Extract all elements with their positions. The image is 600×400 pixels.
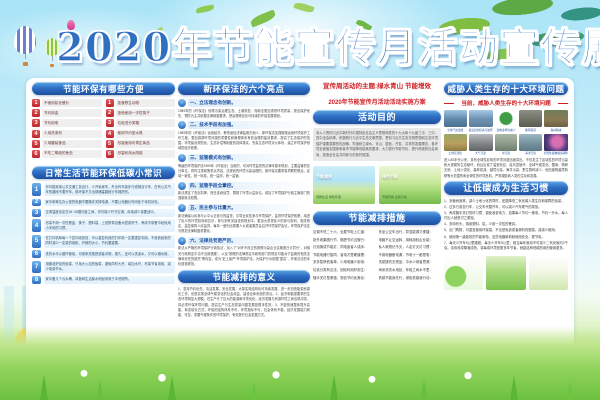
list-item: 5、出门购物，可重复使用环保袋，不论是免费或者便利的塑袋，减减少使用。 — [444, 228, 568, 233]
chevron-right-icon: › — [178, 154, 186, 162]
table-row: 灯泡换成节能灯，同电省省人成序： 私人家规记不灭，人走灯灭灯习惯： — [313, 244, 441, 249]
photo-caption: 生物多样性减少 — [495, 128, 518, 132]
measure-cell: 随手关灯是美德，勤俭节约优美化： — [313, 275, 376, 280]
list-item: 2、过多行或自行车，公交车代替开车，可以减少汽车尾气的排放。 — [444, 205, 568, 210]
list-number: 4 — [106, 130, 114, 138]
grid-item: 生物多样性减少 — [495, 110, 518, 132]
tip-text: 家中备几个污水桶，将各种生活废水积起来用于冲洗厕所。 — [44, 276, 176, 284]
subsection-body: 1989年的《环保法》运用经济、教育途径法律监管方面少，新环保法加强措施运用环境… — [178, 131, 310, 152]
low-carbon-habit-list: 1、多植树造林，减少土地沙化的同时，还能降低二氧化碳人类生存和保障的含量。 2、… — [444, 199, 568, 252]
table-row: 多多智情低客单，少用电器少用电： 洗菜搓衣无残品，中水少绿省思源： — [313, 259, 441, 264]
numbered-two-column-list: 1 不使用铅化餐针 2 节约用金 3 节约用电 4 少用洗涤剂 5 少用罐装食品 — [32, 99, 175, 160]
tip-number: 7 — [32, 261, 41, 274]
purpose-photo-row: 节能减排 低碳生活 绿色环保 绿色节能 节能有我 全民行动 — [313, 166, 441, 204]
list-item: 4 使用节约型水具 — [106, 130, 176, 138]
list-item: 5 在打印机和每一个复印纸张前，可以重复利用的打印纸一定要重复利用，不浪费纸张的… — [32, 235, 175, 248]
tip-number: 1 — [32, 183, 41, 196]
numbered-list-right: 1 拒食野生动物 2 拒绝使用一次性筷子 3 垃圾进分类箱 4 使用节约型水具 … — [106, 99, 176, 160]
grass-blade-icon — [168, 376, 176, 400]
subsection-body: 1989年的《环保法》侧重污染治理生态、土壤恢复、而新法更加重视环境质量，提出保… — [178, 109, 310, 119]
daily-tips-list: 1 尽可能采用公共交通工具出行，少开私家车，外出时尽量步行或骑自行车，在有公共汽… — [32, 183, 175, 284]
list-label: 拒绝使用一次性筷子 — [116, 109, 176, 117]
subsection-body: 新法从严格的环境保护行政执法，加入了"对环不改正的按照污染企业实施按日计罚分"，… — [178, 246, 310, 267]
measure-cell: 低碳节能我先行，绿色低碳我行动： — [379, 275, 442, 280]
tip-text: 用微波炉加热饭菜，只用大火加热饭菜，避免同时大开，增加水开，尽量节省用电，减少电… — [44, 261, 176, 274]
list-number: 3 — [32, 119, 40, 127]
column-energy-saving-conveniences: 节能环保有哪些方便 1 不使用铅化餐针 2 节约用金 3 节约用电 4 少用洗涤… — [32, 82, 175, 286]
poster-image-energy-saving: 节能减排 低碳生活 绿色环保 — [313, 166, 375, 204]
grid-item: 臭氧层的损失与破坏 — [469, 110, 493, 132]
photo-hazardous-waste — [544, 134, 568, 151]
panel-header-measures: 节能减排措施 — [313, 211, 441, 225]
list-item: 7、每天少开车5公里路程，每天少开车5公里，相当每年就将不可减少二氧化碳约2千克… — [444, 241, 568, 252]
tip-number: 8 — [32, 276, 41, 284]
grass-blade-icon — [96, 380, 104, 400]
list-item: 1 尽可能采用公共交通工具出行，少开私家车，外出时尽量步行或骑自行车，在有公共汽… — [32, 183, 175, 196]
list-number: 4 — [32, 130, 40, 138]
tip-number: 4 — [32, 219, 41, 232]
measure-cell: 电脑不让空运转，用耗用轻企业能： — [379, 237, 442, 242]
grass-blade-icon — [566, 381, 574, 400]
list-item: 1 不使用铅化餐针 — [32, 99, 102, 107]
list-item: 4 尽量不用一次性餐盒、筷子、塑料袋，上班携带自备水壶或杯子，养成不用餐巾纸而用… — [32, 219, 175, 232]
plan-title: 2020年节能宣传月活动活动实施方案 — [313, 97, 441, 106]
list-number: 5 — [32, 140, 40, 148]
list-number: 2 — [106, 109, 114, 117]
list-item: 3 空调温度设定在26~28摄氏度之间，尽可能少开冷空调，用电减少量要适中。 — [32, 209, 175, 217]
photo-caption: 大气污染 — [469, 151, 493, 155]
measure-cell: 多多智情低客单，少用电器少用电： — [313, 259, 376, 264]
poster-image-green-energy: 绿色节能 节能有我 全民行动 — [379, 166, 441, 204]
tip-number: 2 — [32, 199, 41, 207]
poster-board: 2020年节能宣传月活动宣传展板 节能环保有哪些方便 1 不使用铅化餐针 2 节… — [0, 0, 600, 400]
list-item: 6、使用第一级能效的节能家电，这些电器新和耐使用安全，更节电。 — [444, 235, 568, 240]
list-label: 节约用金 — [42, 109, 102, 117]
list-item: 3 节约用电 — [32, 119, 102, 127]
measure-cell: 多坐公交车出行，彰显能源又便捷： — [379, 229, 442, 234]
measures-list: 空调不低二十六，全屋节电上汇道： 多坐公交车出行，彰显能源又便捷： 拒外收集圈行… — [313, 229, 441, 280]
list-number: 6 — [32, 150, 40, 158]
grid-item: 森林锐减 — [544, 110, 568, 132]
photo-caption: 土地荒漠化 — [444, 151, 467, 155]
grass-blade-icon — [510, 375, 518, 400]
panel-header-ten-problems: 威胁人类生存的十大环境问题 — [444, 82, 568, 95]
grid-item: 土地荒漠化 — [444, 134, 467, 156]
list-item: 3、养成随手关灯的好习惯，避免浪费电力，如果每人节约一度电，节约一升水，每人付出… — [444, 211, 568, 222]
illustration-cycling — [486, 256, 525, 290]
measure-cell: 私人家规记不灭，人走灯灭灯习惯： — [379, 244, 442, 249]
tip-number: 5 — [32, 235, 41, 248]
list-number: 1 — [32, 99, 40, 107]
photo-marine-pollution — [519, 134, 542, 151]
column-new-environmental-law: 新环保法的六个亮点 › 一、立法理念有创新。 1989年的《环保法》侧重污染治理… — [178, 82, 310, 320]
grid-item: 危险性废物越境转移 — [544, 134, 568, 156]
list-label: 尽量利用太阳能 — [116, 150, 176, 158]
tip-number: 6 — [32, 250, 41, 258]
measure-cell: 洗菜搓衣无残品，中水少绿省思源： — [379, 259, 442, 264]
grid-item: 酸雨蔓延 — [519, 110, 542, 132]
grid-item: 水污染 — [495, 134, 518, 156]
panel-header-daily-tips: 日常生活节能环保低碳小常识 — [32, 166, 175, 179]
list-item: 4 少用洗涤剂 — [32, 130, 102, 138]
subsection-header: › 一、立法理念有创新。 — [178, 99, 310, 107]
photo-caption: 森林锐减 — [544, 128, 568, 132]
list-number: 6 — [106, 150, 114, 158]
hot-air-balloon-icon — [14, 26, 36, 66]
list-item: 8 家中备几个污水桶，将各种生活废水积起来用于冲洗厕所。 — [32, 276, 175, 284]
panel-header-purpose: 活动目的 — [313, 110, 441, 124]
tip-text: 尽量不用一次性餐盒、筷子、塑料袋，上班携带自备水壶或杯子，养成不用餐巾纸而用小手… — [44, 219, 176, 232]
list-item: 6 不吃二氧硫的鱼虫 — [32, 150, 102, 158]
numbered-list-left: 1 不使用铅化餐针 2 节约用金 3 节约用电 4 少用洗涤剂 5 少用罐装食品 — [32, 99, 102, 160]
list-item: 2 节约用金 — [32, 109, 102, 117]
grid-item: 海洋污染 — [519, 134, 542, 156]
list-label: 少用洗涤剂 — [42, 130, 102, 138]
list-number: 1 — [106, 99, 114, 107]
photo-caption: 酸雨蔓延 — [519, 128, 542, 132]
chevron-right-icon: › — [178, 182, 186, 190]
poster-image-caption: 绿色节能 — [382, 174, 398, 180]
poster-image-subcaption: 节能有我 全民行动 — [382, 195, 407, 199]
list-number: 3 — [106, 119, 114, 127]
table-row: 空调不低二十六，全屋节电上汇道： 多坐公交车出行，彰显能源又便捷： — [313, 229, 441, 234]
list-number: 2 — [32, 109, 40, 117]
organization-credit: 郑州市建设投资集团有限公司综合管理部 宣 — [471, 366, 560, 372]
photo-ozone-depletion — [469, 110, 493, 127]
list-item: 5 尽量使用可再生商品 — [106, 140, 176, 148]
subsection-title: 六、法律处罚更严厉。 — [188, 237, 310, 245]
measure-cell: 节能电器行智同，省电才是硬道理： — [313, 252, 376, 257]
photo-air-pollution — [469, 134, 493, 151]
photo-caption: 海洋污染 — [519, 151, 542, 155]
content-plate: 节能环保有哪些方便 1 不使用铅化餐针 2 节约用金 3 节约用电 4 少用洗涤… — [26, 78, 574, 378]
list-item: 2 家中和单位办公室的电器不要随手关掉电源，不要让电器长时间处于待机状态。 — [32, 199, 175, 207]
list-label: 不吃二氧硫的鱼虫 — [42, 150, 102, 158]
subsection-body: 新法规定了查封扣押、按日连续处罚、限制了环境公益诉讼，增加了环境保护行政主管部门… — [178, 191, 310, 201]
environment-photo-grid: 全球气候变暖 臭氧层的损失与破坏 生物多样性减少 酸雨蔓延 森林锐减 土地荒漠化 — [444, 110, 568, 155]
panel-header-low-carbon-habits: 让低碳成为生活习惯 — [444, 181, 568, 195]
subsection-title: 三、监管模式有创新。 — [188, 154, 310, 162]
grid-item: 全球气候变暖 — [444, 110, 467, 132]
photo-biodiversity-loss — [495, 110, 518, 127]
column-environmental-problems: 威胁人类生存的十大环境问题 当前，威胁人类生存的十大环境问题 全球气候变暖 臭氧… — [444, 82, 568, 290]
grid-item: 大气污染 — [469, 134, 493, 156]
photo-water-pollution — [495, 134, 518, 151]
subsection-header: › 四、监管手段全掌控。 — [178, 182, 310, 190]
list-label: 不使用铅化餐针 — [42, 99, 102, 107]
measure-cell: 垃圾分类有见法，回收利用好用生： — [313, 267, 376, 272]
subsection-title: 四、监管手段全掌控。 — [188, 182, 310, 190]
list-label: 尽量使用可再生商品 — [116, 140, 176, 148]
floating-leaf-icon — [196, 4, 215, 13]
list-item: 5 少用罐装食品 — [32, 140, 102, 148]
list-item: 1、多植树造林，减少土地沙化的同时，还能降低二氧化碳人类生存和保障的含量。 — [444, 199, 568, 204]
panel-header-significance: 节能减排的意义 — [178, 270, 310, 283]
list-label: 节约用电 — [42, 119, 102, 127]
list-number: 5 — [106, 140, 114, 148]
grass-blade-icon — [250, 382, 258, 400]
subsection-header: › 六、法律处罚更严厉。 — [178, 237, 310, 245]
panel-header-six-highlights: 新环保法的六个亮点 — [178, 82, 310, 95]
subsection-header: › 五、民主参与比重大。 — [178, 204, 310, 212]
tip-text: 尽可能采用公共交通工具出行，少开私家车，外出时尽量步行或骑自行车，在有公共汽车的… — [44, 183, 176, 196]
list-item: 7 用微波炉加热饭菜，只用大火加热饭菜，避免同时大开，增加水开，尽量节省用电，减… — [32, 261, 175, 274]
list-label: 垃圾进分类箱 — [116, 119, 176, 127]
tip-text: 在打印机和每一个复印纸张前，可以重复利用的打印纸一定要重复利用，不浪费纸张的同时… — [44, 235, 176, 248]
poster-image-subcaption: 低碳生活 绿色环保 — [316, 195, 341, 199]
subsection-title: 五、民主参与比重大。 — [188, 204, 310, 212]
measure-cell: 淘米洗衣水用处，年段之间水不里： — [379, 267, 442, 272]
purpose-body: 深入人贯彻习近平新时代中国特色社会主义思想和党的十九大和十九届三中、三中、四中全… — [313, 128, 441, 161]
photo-desertification — [444, 134, 467, 151]
table-row: 垃圾分类有见法，回收利用好用生： 淘米洗衣水用处，年段之间水不里： — [313, 267, 441, 272]
subsection-body: 新法确保公民参与公平公正参与的监督，引导全民性参与环境保护，监督环境保护政策，增… — [178, 214, 310, 235]
list-label: 使用节约型水具 — [116, 130, 176, 138]
page-title: 2020年节能宣传月活动宣传展板 — [56, 22, 546, 74]
table-row: 节能电器行智同，省电才是硬道理： 不用电器断电源，节电十一都是笔： — [313, 252, 441, 257]
chevron-right-icon: › — [178, 204, 186, 212]
list-item: 1 拒食野生动物 — [106, 99, 176, 107]
illustration-tree-planting — [444, 256, 483, 290]
list-item: 2 拒绝使用一次性筷子 — [106, 109, 176, 117]
column-activity-plan: 宣传周活动的主题:绿水青山 节能增效 2020年节能宣传月活动活动实施方案 活动… — [313, 82, 441, 282]
panel-header-conveniences: 节能环保有哪些方便 — [32, 82, 175, 95]
subsection-title: 二、技术手段有加强。 — [188, 121, 310, 129]
campaign-theme: 宣传周活动的主题:绿水青山 节能增效 — [313, 82, 441, 92]
floating-leaf-icon — [293, 1, 314, 14]
measure-cell: 空调不低二十六，全屋节电上汇道： — [313, 229, 376, 234]
chevron-right-icon: › — [178, 237, 186, 245]
table-row: 拒外收集圈行节，随把节约当做行： 电脑不让空运转，用耗用轻企业能： — [313, 237, 441, 242]
ten-problems-band: 当前，威胁人类生存的十大环境问题 — [444, 99, 568, 107]
photo-caption: 全球气候变暖 — [444, 128, 467, 132]
environment-intro-body: 进入80年代以来，具有全球性影响的环境问题迅速突出。不仅发生了区域性的环境污染和… — [444, 158, 568, 179]
list-item: 3 垃圾进分类箱 — [106, 119, 176, 127]
significance-body: 1、坚持节约优先、清洁发展、安全发展，大量实现结构化可持续发展，进一步加快能源资… — [178, 287, 310, 318]
subsection-title: 一、立法理念有创新。 — [188, 99, 310, 107]
grass-blade-icon — [420, 380, 428, 400]
tip-text: 家中和单位办公室的电器不要随手关掉电源，不要让电器长时间处于待机状态。 — [44, 199, 176, 207]
table-row: 随手关灯是美德，勤俭节约优美化： 低碳节能我先行，绿色低碳我行动： — [313, 275, 441, 280]
chevron-right-icon: › — [178, 99, 186, 107]
list-item: 6 尽量利用太阳能 — [106, 150, 176, 158]
measure-cell: 拒外收集圈行节，随把节约当做行： — [313, 237, 376, 242]
subsection-body: 等级的环境保护法1989年《环保法》当政的，可对环境监督的法律本基本规划，主要监… — [178, 164, 310, 180]
measure-cell: 不用电器断电源，节电十一都是笔： — [379, 252, 442, 257]
list-label: 少用罐装食品 — [42, 140, 102, 148]
illustration-row — [444, 256, 568, 290]
list-item: 6 洗衣水可以循环使用，可用来洗拖把或者冲厕，更久，还可以洗澡水，又可以储水用。 — [32, 250, 175, 258]
photo-caption: 水污染 — [495, 151, 518, 155]
subsection-header: › 二、技术手段有加强。 — [178, 121, 310, 129]
photo-global-warming — [444, 110, 467, 127]
tip-text: 洗衣水可以循环使用，可用来洗拖把或者冲厕，更久，还可以洗澡水，又可以储水用。 — [44, 250, 176, 258]
photo-caption: 危险性废物越境转移 — [544, 151, 568, 155]
chevron-right-icon: › — [178, 121, 186, 129]
photo-acid-rain — [519, 110, 542, 127]
tip-number: 3 — [32, 209, 41, 217]
tip-text: 空调温度设定在26~28摄氏度之间，尽可能少开冷空调，用电减少量要适中。 — [44, 209, 176, 217]
list-label: 拒食野生动物 — [116, 99, 176, 107]
poster-image-caption: 节能减排 — [316, 174, 332, 180]
photo-caption: 臭氧层的损失与破坏 — [469, 128, 493, 132]
photo-deforestation — [544, 110, 568, 127]
measure-cell: 灯泡换成节能灯，同电省省人成序： — [313, 244, 376, 249]
illustration-recycling — [529, 256, 568, 290]
subsection-header: › 三、监管模式有创新。 — [178, 154, 310, 162]
